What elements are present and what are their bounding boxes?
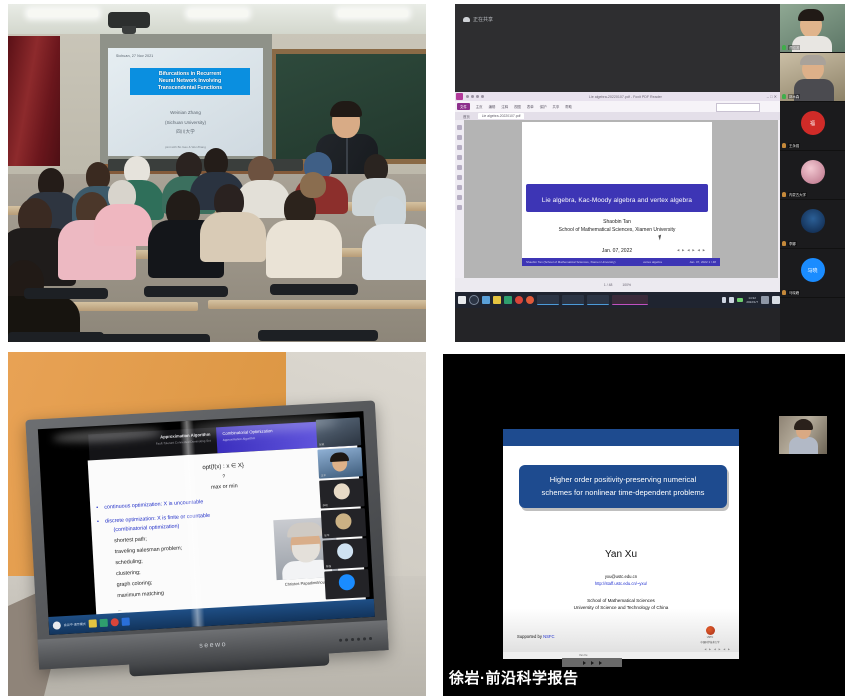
slide-school-line-1: School of Mathematical Sciences <box>503 597 739 604</box>
file-explorer-icon[interactable] <box>493 296 501 304</box>
meeting-app-icon[interactable] <box>121 617 129 625</box>
slide-affiliation: School of Mathematical Sciences, Xiamen … <box>522 226 712 234</box>
doc-tab-home[interactable]: 首页 <box>459 113 474 120</box>
start-button-icon[interactable] <box>458 296 466 304</box>
slide-author-block: Shaobin Tan School of Mathematical Scien… <box>522 218 712 234</box>
participant-name: 马晓峰 <box>788 290 800 295</box>
bezel-buttons[interactable] <box>339 637 372 642</box>
pdf-titlebar: Lie algebra-20220107.pdf - Foxit PDF Rea… <box>455 92 780 101</box>
taskbar-window-4[interactable] <box>612 295 648 305</box>
slide-top-band <box>503 429 739 446</box>
pen-tool-icon[interactable] <box>457 165 462 170</box>
slide-author-block: Weinian Zhang (Sichuan University) 四川大学 <box>108 108 263 137</box>
participant-name: 王平 <box>321 473 326 477</box>
mic-on-icon <box>782 45 786 50</box>
ceiling-light <box>188 10 248 17</box>
note-tool-icon[interactable] <box>457 155 462 160</box>
avatar <box>801 160 825 184</box>
slide-title-banner: Lie algebra, Kac-Moody algebra and verte… <box>526 184 708 212</box>
avatar <box>333 483 350 500</box>
participant-tile[interactable]: 李明 <box>319 478 365 509</box>
device-brand: seewo <box>199 641 227 650</box>
participant-name: 谭绍滨 <box>788 45 800 50</box>
slide-affiliation-cn: 四川大学 <box>108 127 263 137</box>
notification-icon[interactable] <box>761 296 769 304</box>
participant-name: 李明 <box>322 503 327 507</box>
slide-title-line-3: Transcendental Functions <box>134 85 246 92</box>
participant-name: 王永强 <box>788 143 800 148</box>
slide-title: Lie algebra, Kac-Moody algebra and verte… <box>542 197 692 204</box>
participant-tile[interactable]: 郭木森 <box>780 53 845 102</box>
curtain <box>8 36 60 166</box>
chrome-icon[interactable] <box>515 296 523 304</box>
video-caption: 徐岩·前沿科学报告 <box>449 667 579 688</box>
slide-title-banner: Bifurcations in Recurrent Neural Network… <box>130 68 250 95</box>
participant-name-row: 李娜 <box>782 241 797 246</box>
avatar: 福 <box>801 111 825 135</box>
participant-name-row: 马晓峰 <box>782 290 800 295</box>
slide-footer-center: vertex algebra <box>643 260 662 264</box>
slide-example-1: shortest path; <box>114 535 147 546</box>
slide-footer-left: Shaobin Tan (School of Mathematical Scie… <box>526 260 616 264</box>
app-logo-icon <box>456 93 463 100</box>
avatar <box>337 543 354 560</box>
zoom-level[interactable]: 100% <box>622 283 631 287</box>
ribbon-tab-2[interactable]: 编辑 <box>489 104 496 109</box>
avatar <box>335 513 352 530</box>
participant-name: 郭木森 <box>788 94 800 99</box>
taskbar-clock[interactable]: 14:32 2022/1/7 <box>746 296 758 304</box>
participant-tile[interactable]: 福 王永强 <box>780 102 845 151</box>
participant-name: 陈强 <box>326 564 331 568</box>
beamer-nav-icons: ◀ ▶ ◀ ▶ ◀ ▶ <box>704 648 731 651</box>
player-controls[interactable] <box>562 658 622 667</box>
participant-tiles: 谭绍滨 郭木森 福 王永强 <box>780 4 845 342</box>
taskbar-window-2[interactable] <box>562 295 584 305</box>
ceiling-light <box>338 10 408 17</box>
wechat-icon[interactable] <box>504 296 512 304</box>
participant-name: 内蒙古大学 <box>788 192 807 197</box>
participant-tile[interactable]: 陈强 <box>323 538 369 569</box>
slide-affiliation-block: School of Mathematical Sciences Universi… <box>503 597 739 611</box>
taskbar-label: 会议中·演示模式 <box>64 622 86 627</box>
interactive-display: Approximation Algorithm Fault-Tolerant C… <box>25 400 388 669</box>
show-desktop-icon[interactable] <box>772 296 780 304</box>
ceiling-light <box>28 10 98 17</box>
logo-mark-icon <box>706 626 715 635</box>
next-icon[interactable] <box>591 661 594 665</box>
slide-example-2: traveling salesman problem; <box>115 544 183 557</box>
search-input[interactable] <box>716 103 760 112</box>
file-explorer-icon[interactable] <box>89 619 97 627</box>
chrome-icon[interactable] <box>111 618 119 626</box>
participant-tile[interactable] <box>324 569 370 600</box>
participant-name-row: 王永强 <box>782 143 800 148</box>
logo-text-cn: 中国科学技术大学 <box>700 640 719 644</box>
ribbon-tab-1[interactable]: 主页 <box>476 104 483 109</box>
self-video-tile[interactable] <box>779 416 827 454</box>
slide-example-5: graph coloring; <box>116 579 152 591</box>
support-prefix: Supported by <box>517 634 543 639</box>
quick-access-toolbar[interactable] <box>466 95 484 98</box>
participant-name-row: 谭绍滨 <box>782 45 800 50</box>
window-controls[interactable]: – □ ✕ <box>767 94 777 99</box>
play-icon[interactable] <box>583 661 586 665</box>
ribbon-tab-5[interactable]: 表单 <box>527 104 534 109</box>
logo-text-en: USTC <box>707 636 714 639</box>
ribbon-tab-7[interactable]: 共享 <box>552 104 559 109</box>
avatar <box>801 209 825 233</box>
doc-tab-active[interactable]: Lie algebra-20220107.pdf <box>478 113 525 119</box>
meeting-top-area: 正在共享 <box>455 4 780 92</box>
slide-title-line-1: Bifurcations in Recurrent <box>134 71 246 78</box>
ribbon-tab-3[interactable]: 注释 <box>501 104 508 109</box>
sharing-indicator: 正在共享 <box>463 16 493 23</box>
slide-author: Yan Xu <box>503 549 739 560</box>
slide-example-6: maximum matching <box>117 590 164 602</box>
slide-footer-right: Jan. 07, 2022 1 / 48 <box>689 260 716 264</box>
slide-footnote: joint with Bo Gao & Wei Zhang <box>108 145 263 149</box>
windows-taskbar[interactable]: 14:32 2022/1/7 <box>455 292 783 308</box>
ribbon-tab-6[interactable]: 保护 <box>540 104 547 109</box>
pdf-canvas[interactable]: Lie algebra, Kac-Moody algebra and verte… <box>464 120 778 278</box>
meeting-bottom-area <box>455 308 780 342</box>
ribbon-tab-8[interactable]: 帮助 <box>565 104 572 109</box>
mic-off-icon <box>782 241 786 246</box>
volume-icon[interactable] <box>729 297 734 303</box>
sharing-label: 正在共享 <box>473 16 493 23</box>
page-indicator[interactable]: 1 / 48 <box>604 283 612 287</box>
clock-date: 2022/1/7 <box>746 300 758 304</box>
slide-contact-block: yxu@ustc.edu.cn http://staff.ustc.edu.cn… <box>503 574 739 587</box>
mic-off-icon <box>782 290 786 295</box>
slide-example-4: clustering; <box>116 569 141 580</box>
ribbon-tab-0[interactable]: 文件 <box>457 103 470 110</box>
slide-title-banner: Higher order positivity-preserving numer… <box>519 465 727 508</box>
participant-tile[interactable]: 谭绍滨 <box>780 4 845 53</box>
taskbar-window-3[interactable] <box>587 295 609 305</box>
browser-icon[interactable] <box>526 296 534 304</box>
pdf-page: Lie algebra, Kac-Moody algebra and verte… <box>522 122 712 266</box>
slide-header-date: Sichuan, 27 Nov 2021 <box>116 54 153 58</box>
avatar-initials: 马晓 <box>807 267 817 274</box>
start-button-icon[interactable] <box>53 621 61 629</box>
slide-example-3: scheduling; <box>115 558 143 569</box>
mic-off-icon <box>782 192 786 197</box>
avatar: 马晓 <box>801 258 825 282</box>
slide-support-note: Supported by NSFC <box>517 634 554 639</box>
participant-tile[interactable]: 内蒙古大学 <box>780 151 845 200</box>
display-screen: Approximation Algorithm Fault-Tolerant C… <box>38 411 375 635</box>
meeting-participant-strip: 张照 王平 李明 张华 <box>316 417 370 599</box>
avatar <box>338 573 355 590</box>
slide-footer-author: Yan Xu <box>503 654 587 657</box>
system-tray[interactable]: 14:32 2022/1/7 <box>722 296 783 304</box>
slide-title-line-2: Neural Network Involving <box>134 78 246 85</box>
measure-tool-icon[interactable] <box>457 195 462 200</box>
taskview-icon[interactable] <box>482 296 490 304</box>
participant-tile[interactable]: 李娜 <box>780 200 845 249</box>
mic-off-icon <box>782 143 786 148</box>
avatar-initials: 福 <box>810 120 815 127</box>
hand-tool-icon[interactable] <box>457 125 462 130</box>
projector-icon <box>108 12 150 28</box>
slide-homepage-link[interactable]: http://staff.ustc.edu.cn/~yxu/ <box>595 581 647 586</box>
slide-author: Shaobin Tan <box>522 218 712 226</box>
participant-tile[interactable]: 马晓 马晓峰 <box>780 249 845 298</box>
pdf-document-tabs[interactable]: 首页 Lie algebra-20220107.pdf <box>455 112 784 120</box>
university-logo: USTC 中国科学技术大学 <box>693 625 727 645</box>
select-tool-icon[interactable] <box>457 135 462 140</box>
lecture-hall-photo: Sichuan, 27 Nov 2021 Bifurcations in Rec… <box>8 4 426 342</box>
mouse-cursor-icon <box>658 235 662 241</box>
pdf-statusbar[interactable]: 1 / 48 100% <box>455 278 780 292</box>
forward-icon[interactable] <box>599 661 602 665</box>
slide-school-line-2: University of Science and Technology of … <box>503 604 739 611</box>
participant-tile[interactable]: 王平 <box>317 448 363 479</box>
slide-affiliation: (Sichuan University) <box>108 118 263 128</box>
network-icon[interactable] <box>722 297 726 303</box>
participant-tile[interactable]: 张华 <box>321 508 367 539</box>
ceiling <box>8 4 426 34</box>
highlight-tool-icon[interactable] <box>457 145 462 150</box>
search-icon[interactable] <box>469 295 479 305</box>
photo-collage: Sichuan, 27 Nov 2021 Bifurcations in Rec… <box>0 0 850 700</box>
slide-title-line-1: Higher order positivity-preserving numer… <box>527 474 719 487</box>
slide-footer-bar: Shaobin Tan (School of Mathematical Scie… <box>522 258 720 266</box>
presentation-slide: Higher order positivity-preserving numer… <box>503 429 739 659</box>
participant-name: 张华 <box>324 533 329 537</box>
attachment-tool-icon[interactable] <box>457 205 462 210</box>
mic-on-icon <box>782 94 786 99</box>
pdf-window-title: Lie algebra-20220107.pdf - Foxit PDF Rea… <box>484 95 767 99</box>
participant-name: 李娜 <box>788 241 797 246</box>
smart-board-photo: Approximation Algorithm Fault-Tolerant C… <box>8 352 426 696</box>
online-meeting-screenshot: 正在共享 Lie algebra-20220107.pdf - Foxit PD… <box>455 4 845 342</box>
participant-name-row: 郭木森 <box>782 94 800 99</box>
share-icon <box>463 17 470 22</box>
stamp-tool-icon[interactable] <box>457 175 462 180</box>
participant-name-row: 内蒙古大学 <box>782 192 807 197</box>
participant-name: 张照 <box>319 443 324 447</box>
online-talk-screenshot: Higher order positivity-preserving numer… <box>443 354 845 696</box>
pdf-reader-window: Lie algebra-20220107.pdf - Foxit PDF Rea… <box>455 92 780 292</box>
pdf-tool-sidebar[interactable] <box>455 120 464 278</box>
slide-title-line-2: schemes for nonlinear time-dependent pro… <box>527 487 719 500</box>
wechat-icon[interactable] <box>100 619 108 627</box>
signature-tool-icon[interactable] <box>457 185 462 190</box>
beamer-nav-icons: ◀ ▶ ◀ ▶ ◀ ▶ <box>677 248 706 252</box>
battery-icon[interactable] <box>737 298 743 302</box>
slide-author: Weinian Zhang <box>108 108 263 118</box>
ribbon-tab-4[interactable]: 视图 <box>514 104 521 109</box>
taskbar-window-1[interactable] <box>537 295 559 305</box>
support-agency: NSFC <box>543 634 554 639</box>
header-blue-subtitle: Approximation Algorithm <box>223 436 256 442</box>
audience-area <box>8 174 426 342</box>
projection-screen: Sichuan, 27 Nov 2021 Bifurcations in Rec… <box>108 48 263 156</box>
